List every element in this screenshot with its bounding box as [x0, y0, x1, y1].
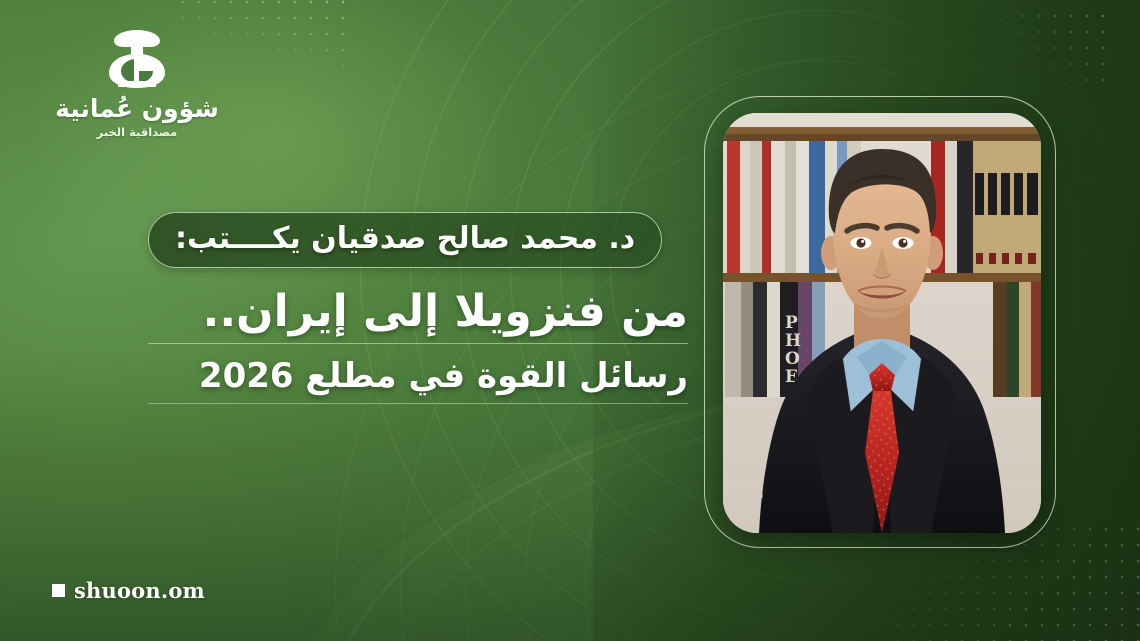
kicker-row: د. محمد صالح صدقيان يكــــتب:: [148, 212, 688, 268]
brand-tagline: مصداقية الخبر: [52, 125, 222, 139]
author-kicker: د. محمد صالح صدقيان يكــــتب:: [148, 212, 662, 268]
dot-grid-top-right: [999, 8, 1114, 88]
brand-logo[interactable]: شؤون عُمانية مصداقية الخبر: [52, 28, 222, 139]
portrait-photo: P H O E: [723, 113, 1041, 533]
headline-secondary: رسائل القوة في مطلع 2026: [148, 356, 688, 403]
footer-brand[interactable]: shuoon.om: [52, 578, 205, 603]
square-bullet-icon: [52, 584, 65, 597]
poster-canvas: شؤون عُمانية مصداقية الخبر د. محمد صالح …: [0, 0, 1140, 641]
website-url[interactable]: shuoon.om: [74, 578, 205, 603]
incense-burner-icon: [104, 28, 170, 90]
headline-primary: من فنزويلا إلى إيران..: [148, 286, 688, 345]
headline-block: د. محمد صالح صدقيان يكــــتب: من فنزويلا…: [148, 212, 688, 404]
dot-grid-bottom-right: [890, 521, 1140, 641]
portrait-illustration: P H O E: [723, 113, 1041, 533]
brand-name: شؤون عُمانية: [52, 96, 222, 122]
